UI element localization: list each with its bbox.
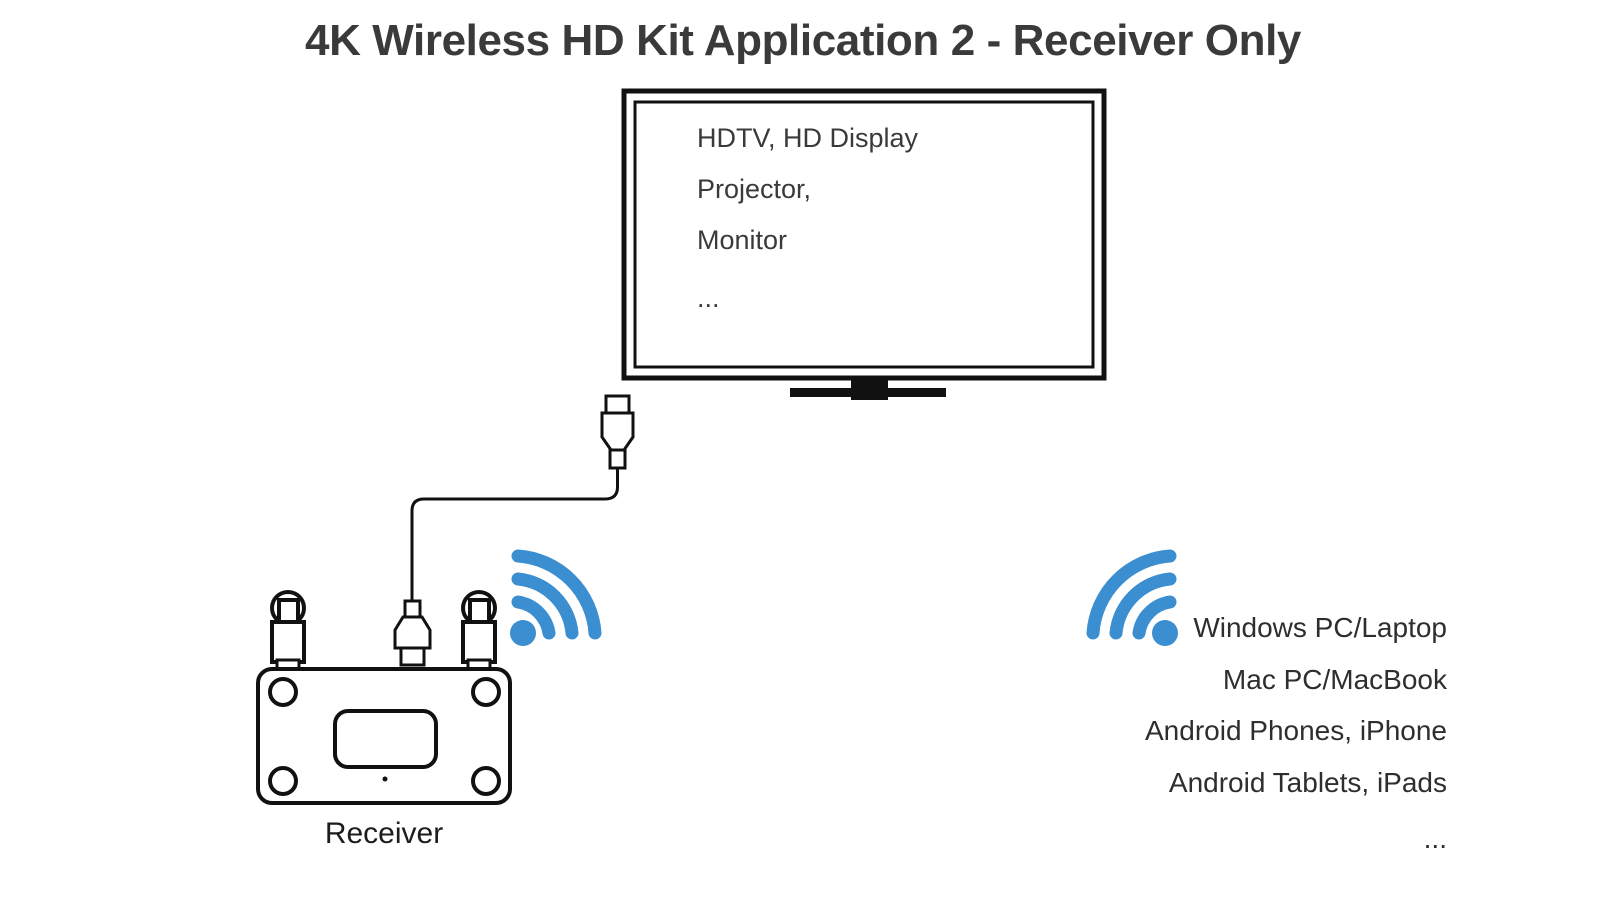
wifi-icon-receiver: [510, 556, 595, 646]
receiver-screw-bottom-left: [270, 768, 296, 794]
device-list-item-1: Windows PC/Laptop: [1193, 612, 1447, 643]
hdmi-connector-bottom-tip: [401, 648, 424, 665]
tv-screen-line-2: Projector,: [697, 174, 811, 204]
receiver-label: Receiver: [325, 817, 443, 850]
tv-screen-line-4: ...: [697, 283, 720, 313]
wifi-icon-devices: [1093, 556, 1178, 646]
hdmi-connector-bottom-neck: [405, 601, 420, 617]
receiver-antenna-right: [463, 592, 495, 672]
hdmi-connector-top-neck: [610, 450, 625, 468]
device-list-item-5: ...: [1424, 823, 1447, 854]
receiver-screw-bottom-right: [473, 768, 499, 794]
device-list-item-3: Android Phones, iPhone: [1145, 715, 1447, 746]
antenna-base-right: [463, 622, 495, 662]
application-diagram: 4K Wireless HD Kit Application 2 - Recei…: [0, 0, 1606, 904]
device-list-item-2: Mac PC/MacBook: [1223, 664, 1448, 695]
hdmi-connector-bottom-body: [395, 617, 430, 648]
tv-stand-base: [790, 388, 946, 397]
tv-screen-line-3: Monitor: [697, 225, 787, 255]
page-title: 4K Wireless HD Kit Application 2 - Recei…: [305, 16, 1302, 65]
receiver-panel-window: [335, 711, 436, 767]
hdmi-connector-top: [602, 396, 633, 468]
receiver-status-led: [383, 777, 388, 782]
hdmi-connector-top-body: [602, 413, 633, 450]
antenna-base-left: [272, 622, 304, 662]
tv-screen-line-1: HDTV, HD Display: [697, 123, 919, 153]
device-list-item-4: Android Tablets, iPads: [1169, 767, 1447, 798]
receiver-screw-top-right: [473, 679, 499, 705]
hdmi-connector-bottom: [395, 601, 430, 665]
device-list: Windows PC/Laptop Mac PC/MacBook Android…: [1145, 612, 1448, 854]
hdmi-connector-top-tip: [606, 396, 629, 413]
diagram-canvas: 4K Wireless HD Kit Application 2 - Recei…: [0, 0, 1606, 904]
receiver-screw-top-left: [270, 679, 296, 705]
wifi-icon-dot: [510, 620, 536, 646]
wifi-icon-dot: [1152, 620, 1178, 646]
receiver-antenna-left: [272, 592, 304, 672]
receiver-device: Receiver: [258, 592, 510, 850]
tv-display: HDTV, HD Display Projector, Monitor ...: [624, 91, 1104, 400]
